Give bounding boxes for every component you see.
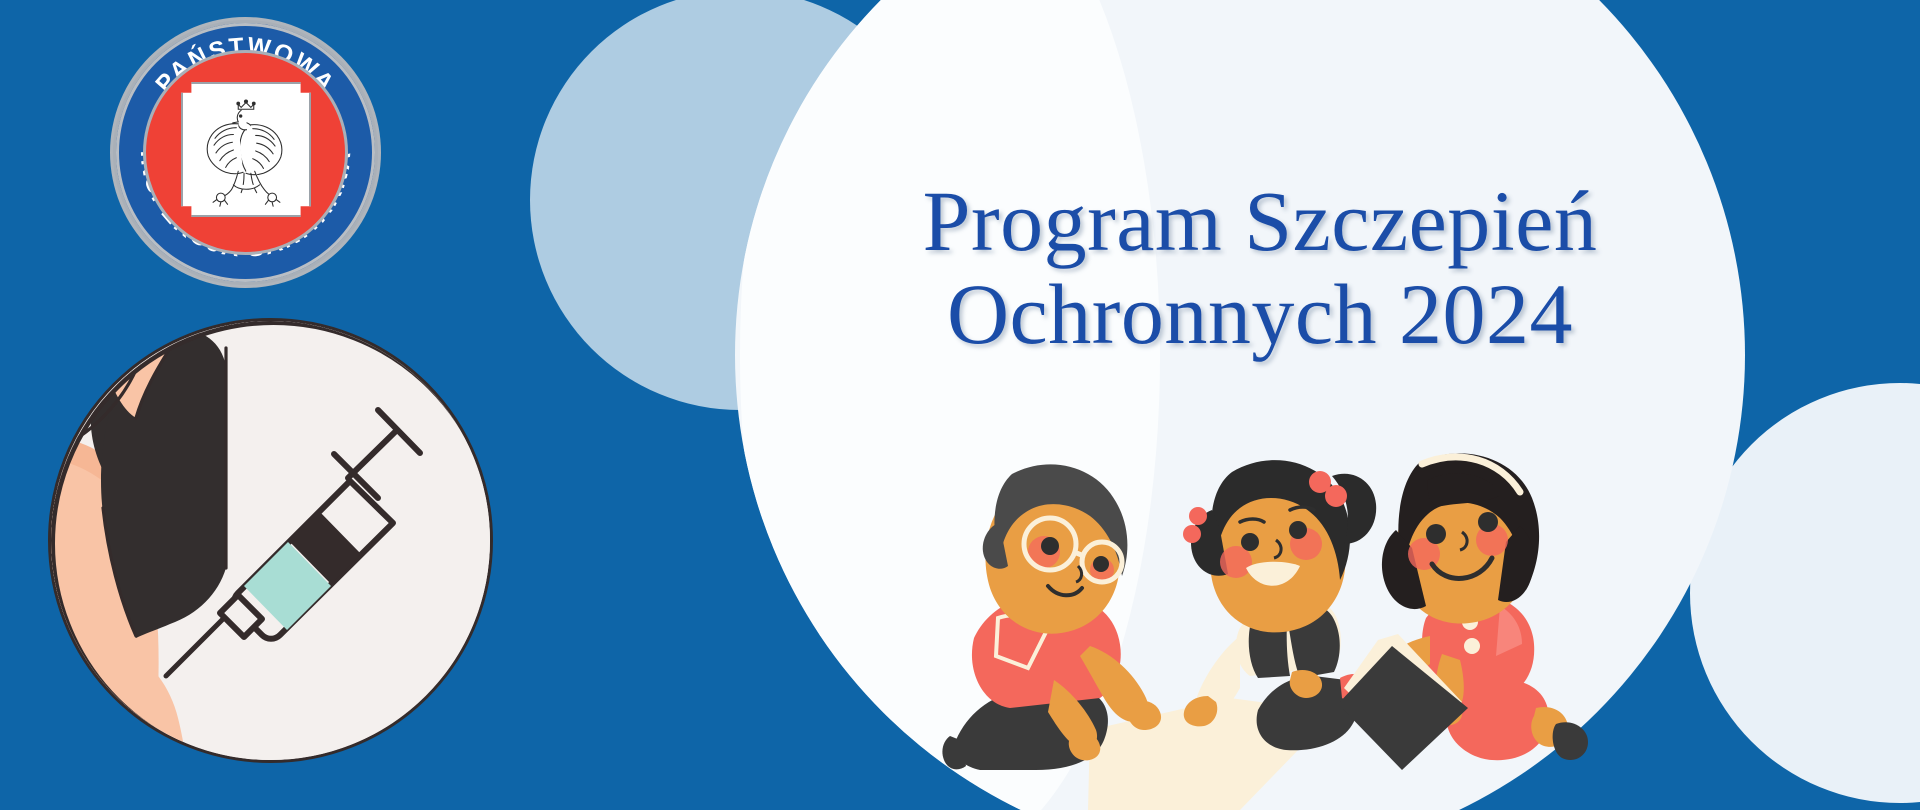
page-title: Program Szczepień Ochronnych 2024 [760,175,1760,361]
three-children-illustration [940,440,1730,810]
vaccination-scene-icon [48,318,493,763]
panstwowa-inspekcja-sanitarna-logo: PAŃSTWOWA INSPEKCJA SANITARNA [113,20,378,285]
polish-eagle-icon [183,84,309,215]
emblem-shield-plate [181,82,311,217]
vaccination-program-banner: PAŃSTWOWA INSPEKCJA SANITARNA [0,0,1920,810]
title-line-1: Program Szczepień [760,175,1760,268]
title-line-2: Ochronnych 2024 [760,268,1760,361]
vaccination-syringe-illustration [48,318,493,763]
children-scene-icon [940,440,1730,810]
